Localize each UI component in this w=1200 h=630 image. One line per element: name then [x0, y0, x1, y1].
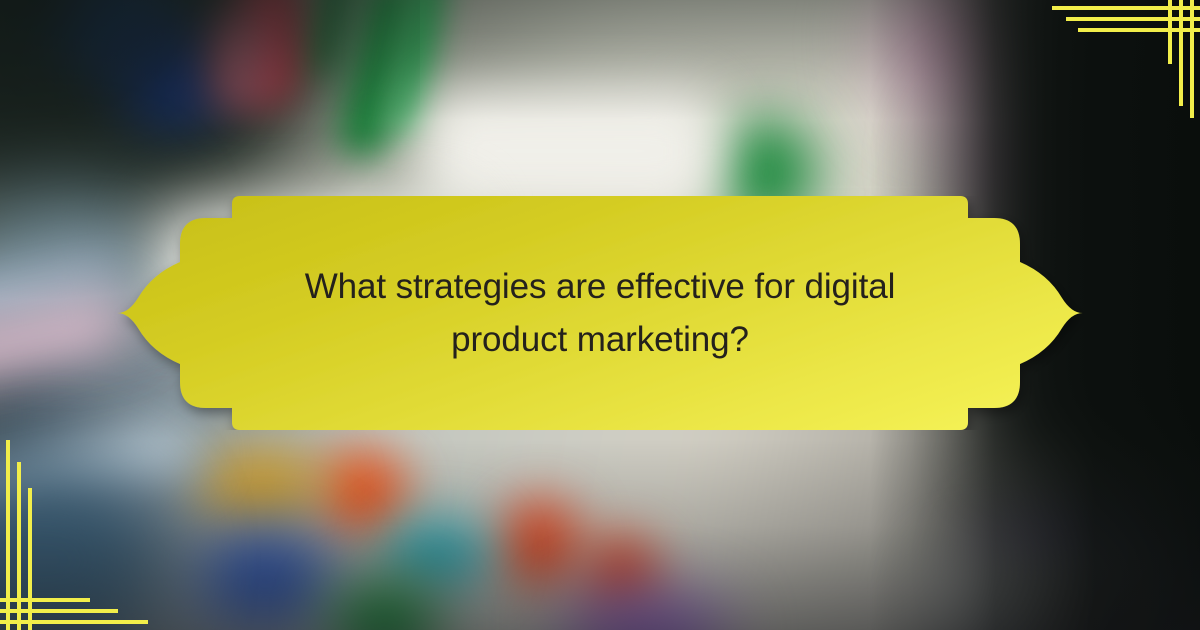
vignette-bottom — [0, 440, 1200, 630]
frame-line-bl-v2 — [17, 462, 21, 630]
frame-line-bl-v1 — [6, 440, 10, 630]
question-card-shape — [106, 196, 1094, 430]
question-card: What strategies are effective for digita… — [106, 196, 1094, 430]
frame-line-tr-v2 — [1179, 0, 1183, 106]
poster-canvas: What strategies are effective for digita… — [0, 0, 1200, 630]
frame-line-bl-h3 — [0, 598, 90, 602]
frame-line-tr-v1 — [1190, 0, 1194, 118]
frame-line-tr-h1 — [1052, 6, 1200, 10]
frame-line-tr-v3 — [1168, 0, 1172, 64]
frame-line-bl-h1 — [0, 620, 148, 624]
frame-line-bl-v3 — [28, 488, 32, 630]
